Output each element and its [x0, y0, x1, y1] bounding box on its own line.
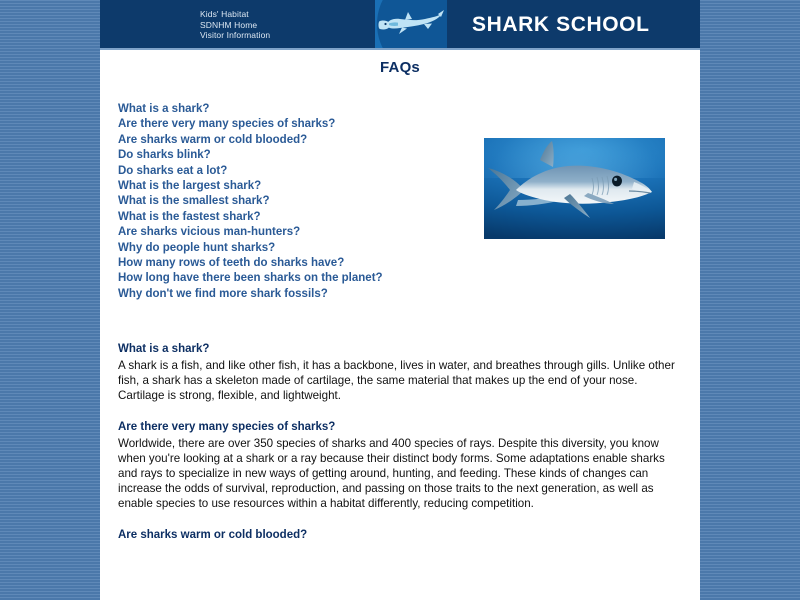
- answer-block: Are there very many species of sharks? W…: [118, 420, 683, 512]
- faq-link-smallest-shark[interactable]: What is the smallest shark?: [118, 194, 458, 209]
- faq-link-why-hunt-sharks[interactable]: Why do people hunt sharks?: [118, 241, 458, 256]
- faq-index-list: What is a shark? Are there very many spe…: [118, 102, 458, 302]
- answer-block: Are sharks warm or cold blooded?: [118, 528, 683, 543]
- answer-heading: Are sharks warm or cold blooded?: [118, 528, 683, 543]
- answer-block: What is a shark? A shark is a fish, and …: [118, 342, 683, 404]
- faq-link-fastest-shark[interactable]: What is the fastest shark?: [118, 210, 458, 225]
- faq-link-rows-of-teeth[interactable]: How many rows of teeth do sharks have?: [118, 256, 458, 271]
- hammerhead-shark-glyph: [378, 8, 444, 42]
- answer-heading: What is a shark?: [118, 342, 683, 357]
- nav-link-kids-habitat[interactable]: Kids' Habitat: [200, 9, 320, 20]
- page-title-banner: SHARK SCHOOL: [472, 13, 650, 37]
- faq-link-largest-shark[interactable]: What is the largest shark?: [118, 179, 458, 194]
- faq-link-do-sharks-eat-a-lot[interactable]: Do sharks eat a lot?: [118, 164, 458, 179]
- faq-link-do-sharks-blink[interactable]: Do sharks blink?: [118, 148, 458, 163]
- faq-link-warm-or-cold-blooded[interactable]: Are sharks warm or cold blooded?: [118, 133, 458, 148]
- main-content: FAQs: [100, 50, 700, 76]
- faq-answers: What is a shark? A shark is a fish, and …: [118, 342, 683, 559]
- answer-body: A shark is a fish, and like other fish, …: [118, 358, 683, 404]
- nav-link-sdnhm-home[interactable]: SDNHM Home: [200, 20, 320, 31]
- faq-link-shark-fossils[interactable]: Why don't we find more shark fossils?: [118, 287, 458, 302]
- page-frame: Kids' Habitat SDNHM Home Visitor Informa…: [100, 0, 700, 600]
- faq-link-vicious-man-hunters[interactable]: Are sharks vicious man-hunters?: [118, 225, 458, 240]
- shark-photo: [484, 138, 665, 239]
- answer-body: Worldwide, there are over 350 species of…: [118, 436, 683, 512]
- site-header: Kids' Habitat SDNHM Home Visitor Informa…: [100, 0, 700, 50]
- faq-link-what-is-a-shark[interactable]: What is a shark?: [118, 102, 458, 117]
- answer-heading: Are there very many species of sharks?: [118, 420, 683, 435]
- nav-link-visitor-information[interactable]: Visitor Information: [200, 30, 320, 41]
- hammerhead-shark-icon[interactable]: [375, 0, 447, 50]
- header-nav: Kids' Habitat SDNHM Home Visitor Informa…: [200, 9, 320, 41]
- faq-link-many-species[interactable]: Are there very many species of sharks?: [118, 117, 458, 132]
- page-title: FAQs: [100, 50, 700, 76]
- blue-shark-illustration: [484, 138, 665, 239]
- faq-link-how-long-on-planet[interactable]: How long have there been sharks on the p…: [118, 271, 458, 286]
